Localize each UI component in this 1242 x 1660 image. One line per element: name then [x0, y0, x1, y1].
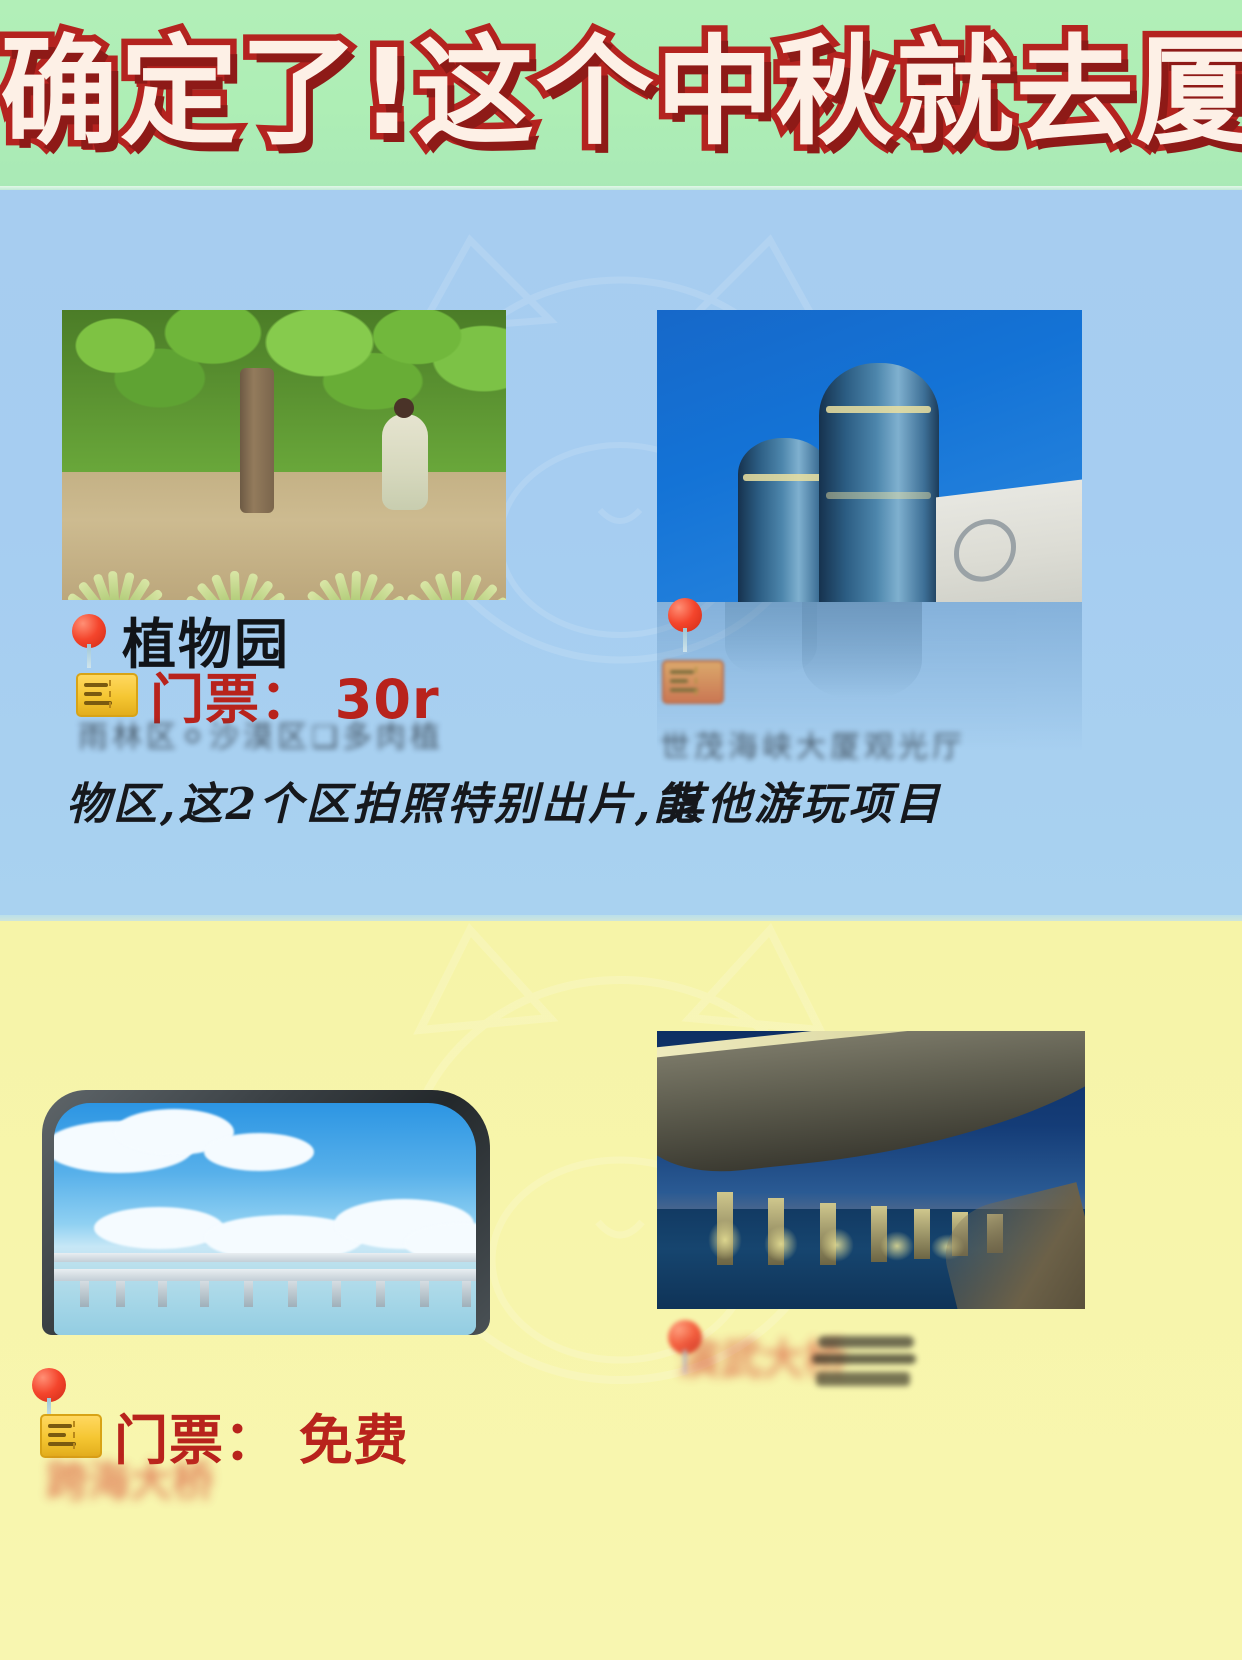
round-pushpin-icon [668, 1320, 702, 1372]
admission-ticket-icon [76, 673, 138, 717]
botanical-garden-photo [62, 310, 506, 600]
night-sea-bridge-photo [657, 1031, 1085, 1309]
ticket-row-botanical-garden: 门票： 30r [76, 655, 440, 734]
ticket-row-sea-crossing-train: 门票： 免费 [40, 1396, 409, 1475]
poster-canvas: 确定了!这个中秋就去厦门 [0, 0, 1242, 1660]
ticket-price-sea-crossing-train: 门票： 免费 [114, 1396, 409, 1475]
place-row-night-sea-bridge [668, 1320, 718, 1372]
place-row-twin-towers [668, 598, 718, 650]
ticket-price-botanical-garden: 门票： 30r [150, 655, 440, 734]
caption-botanical-garden: 物区,这2个区拍照特别出片,能 [66, 768, 700, 832]
ticket-row-twin-towers [662, 660, 736, 704]
admission-ticket-icon [662, 660, 724, 704]
twin-towers-photo [657, 310, 1082, 602]
caption-twin-towers: 其他游玩项目 [660, 768, 942, 832]
round-pushpin-icon [668, 598, 702, 650]
page-title: 确定了!这个中秋就去厦门 [0, 26, 1242, 158]
admission-ticket-icon [40, 1414, 102, 1458]
train-window-sea-bridge-photo [42, 1090, 490, 1335]
